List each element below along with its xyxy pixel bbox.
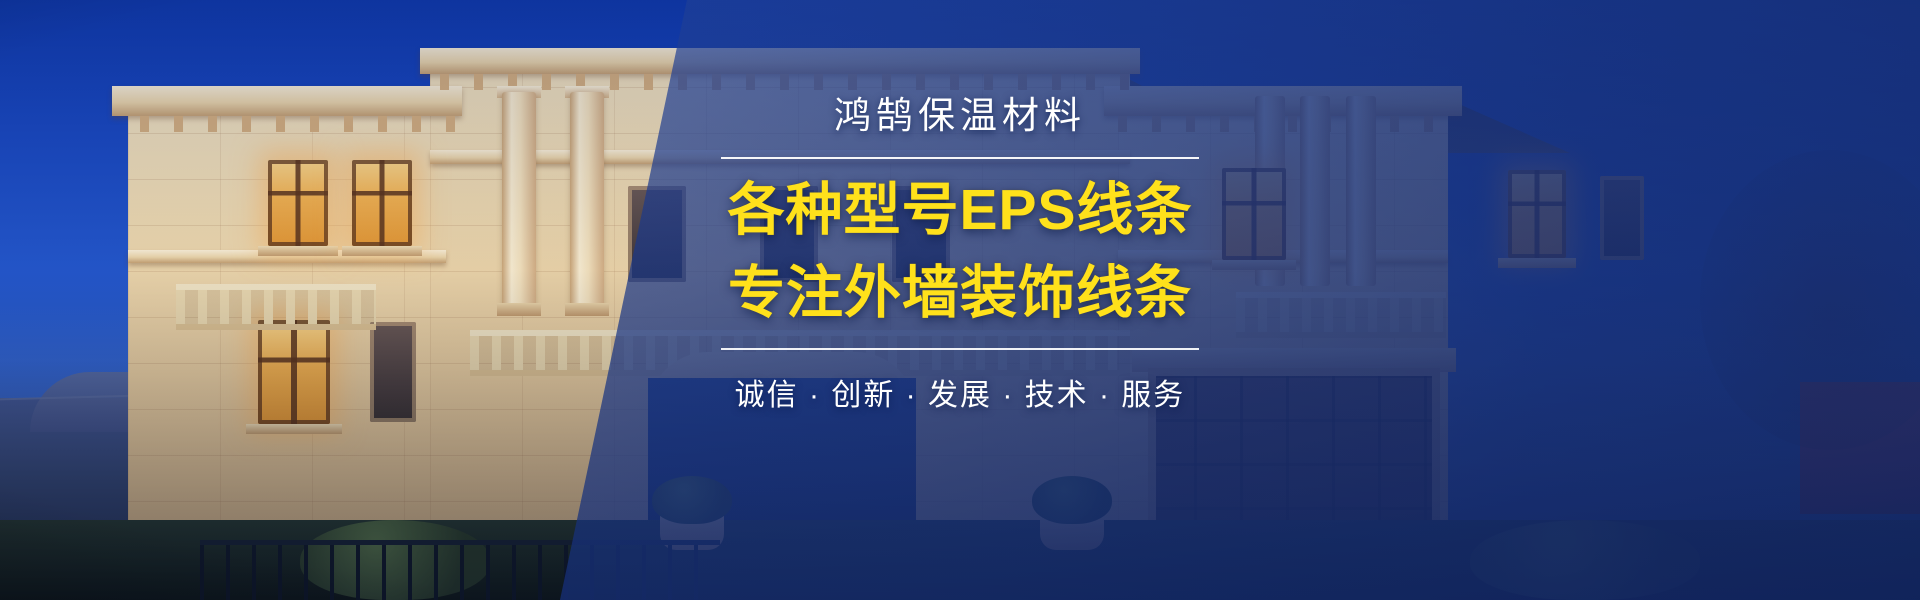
divider-bottom bbox=[721, 348, 1199, 350]
tagline: 诚信 · 创新 · 发展 · 技术 · 服务 bbox=[700, 370, 1220, 414]
hero-banner: 鸿鹄保温材料 各种型号EPS线条 专注外墙装饰线条 诚信 · 创新 · 发展 ·… bbox=[0, 0, 1920, 600]
headline-line-1: 各种型号EPS线条 bbox=[700, 178, 1220, 242]
banner-text-block: 鸿鹄保温材料 各种型号EPS线条 专注外墙装饰线条 诚信 · 创新 · 发展 ·… bbox=[700, 96, 1220, 414]
divider-top bbox=[721, 157, 1199, 159]
brand-name: 鸿鹄保温材料 bbox=[700, 96, 1220, 137]
headline-line-2: 专注外墙装饰线条 bbox=[700, 261, 1220, 325]
